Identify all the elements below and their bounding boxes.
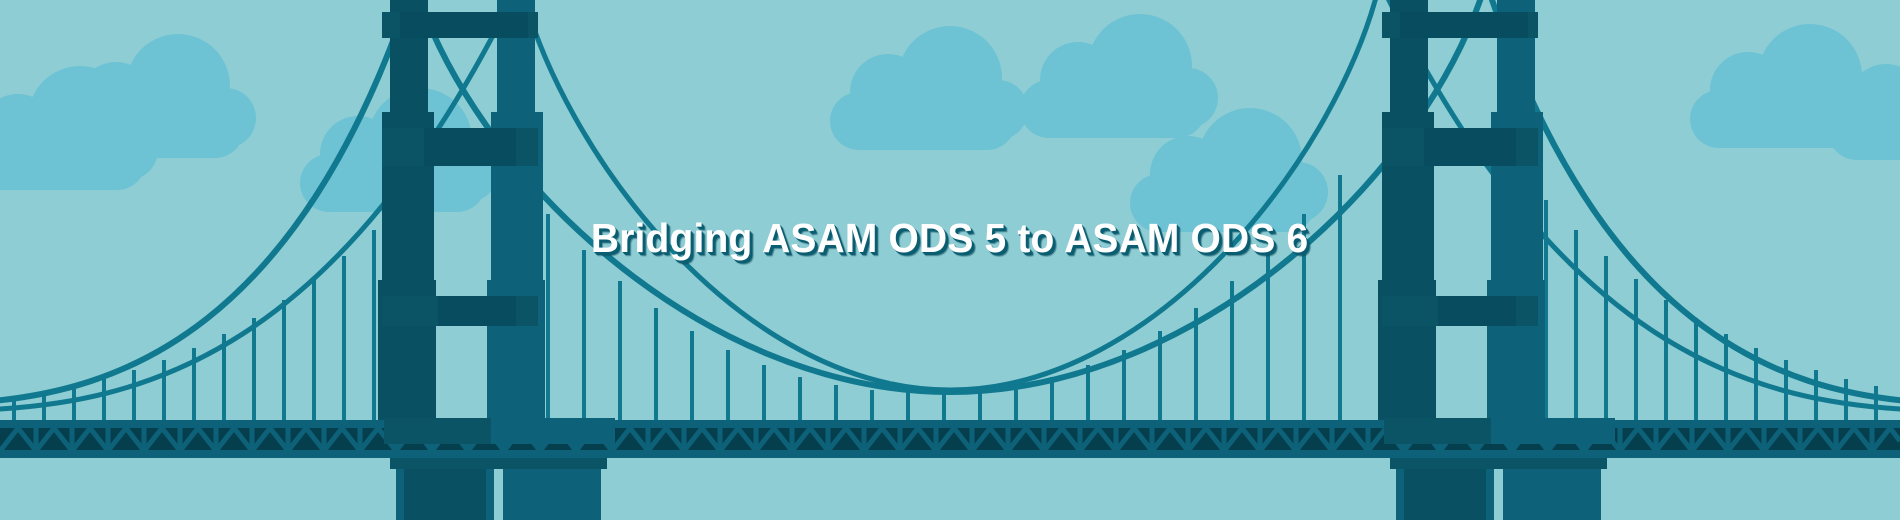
deck-bottom-rail xyxy=(0,450,1900,458)
hero-banner: Bridging ASAM ODS 5 to ASAM ODS 6 xyxy=(0,0,1900,520)
bridge-illustration xyxy=(0,0,1900,520)
